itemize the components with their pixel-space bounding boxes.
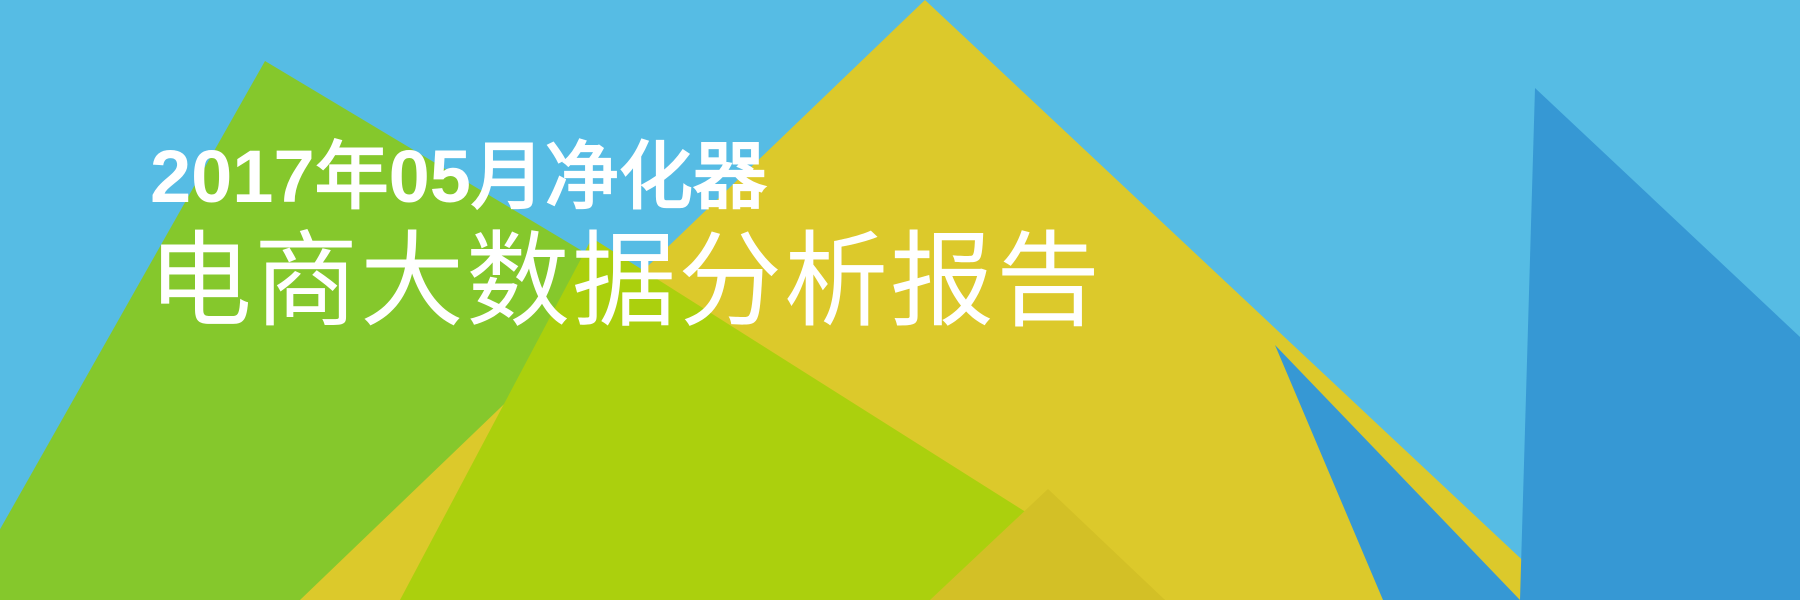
title-block: 2017年05月净化器 电商大数据分析报告 [148,140,1102,334]
report-title-line-1: 2017年05月净化器 [148,140,1102,214]
report-title-line-2: 电商大数据分析报告 [148,230,1102,334]
report-cover-banner: 2017年05月净化器 电商大数据分析报告 [0,0,1800,600]
